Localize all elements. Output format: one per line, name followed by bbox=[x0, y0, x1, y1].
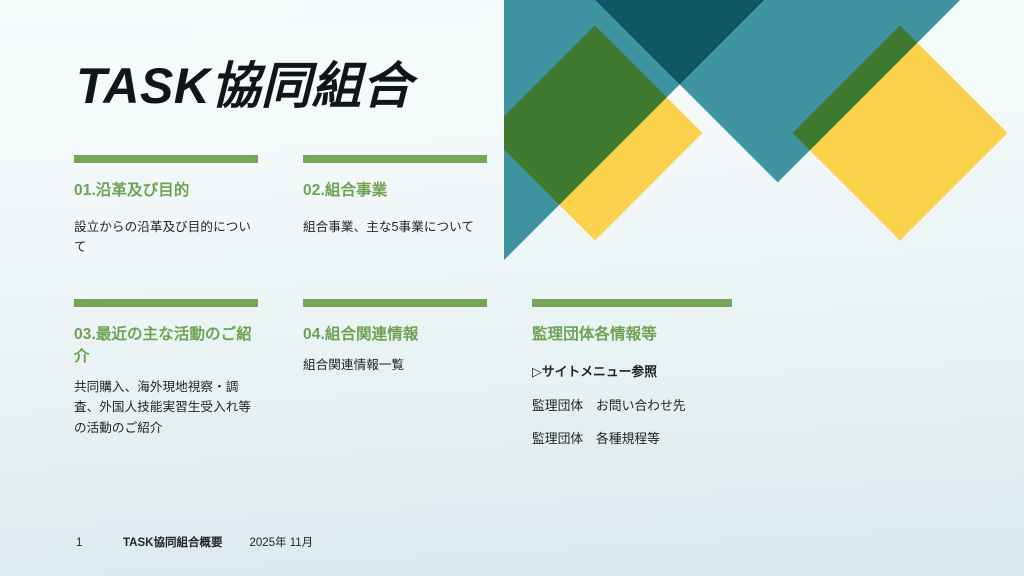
accent-bar bbox=[74, 299, 258, 307]
topic-card-body: 組合事業、主な5事業について bbox=[303, 217, 487, 237]
topic-card-title: 03.最近の主な活動のご紹介 bbox=[74, 324, 258, 368]
topic-card-02[interactable]: 02.組合事業 組合事業、主な5事業について bbox=[303, 155, 487, 258]
supervising-org-link-list: ▷サイトメニュー参照 監理団体 お問い合わせ先 監理団体 各種規程等 bbox=[532, 362, 732, 450]
page-title: TASK協同組合 bbox=[76, 57, 412, 116]
topic-card-supervising-org[interactable]: 監理団体各情報等 ▷サイトメニュー参照 監理団体 お問い合わせ先 監理団体 各種… bbox=[532, 299, 732, 450]
list-item[interactable]: 監理団体 各種規程等 bbox=[532, 429, 732, 450]
topic-card-body: 設立からの沿革及び目的について bbox=[74, 217, 258, 258]
slide-footer: 1 TASK協同組合概要 2025年 11月 bbox=[76, 534, 313, 550]
document-date: 2025年 11月 bbox=[249, 534, 313, 550]
accent-bar bbox=[303, 155, 487, 163]
topic-card-placeholder bbox=[532, 155, 732, 258]
topic-grid: 01.沿革及び目的 設立からの沿革及び目的について 02.組合事業 組合事業、主… bbox=[74, 155, 734, 450]
yellow-diamond-right bbox=[793, 26, 1008, 241]
slide: TASK協同組合 01.沿革及び目的 設立からの沿革及び目的について 02.組合… bbox=[0, 0, 1024, 576]
topic-card-title: 04.組合関連情報 bbox=[303, 324, 487, 346]
topic-card-body: 共同購入、海外現地視察・調査、外国人技能実習生受入れ等の活動のご紹介 bbox=[74, 377, 258, 438]
topic-card-title: 01.沿革及び目的 bbox=[74, 180, 258, 202]
accent-bar bbox=[303, 299, 487, 307]
topic-card-title: 02.組合事業 bbox=[303, 180, 487, 202]
topic-card-04[interactable]: 04.組合関連情報 組合関連情報一覧 bbox=[303, 299, 487, 450]
accent-bar bbox=[532, 299, 732, 307]
document-name: TASK協同組合概要 bbox=[123, 534, 222, 550]
topic-card-01[interactable]: 01.沿革及び目的 設立からの沿革及び目的について bbox=[74, 155, 258, 258]
page-number: 1 bbox=[76, 537, 123, 549]
accent-bar bbox=[74, 155, 258, 163]
topic-card-03[interactable]: 03.最近の主な活動のご紹介 共同購入、海外現地視察・調査、外国人技能実習生受入… bbox=[74, 299, 258, 450]
topic-card-body: 組合関連情報一覧 bbox=[303, 355, 487, 375]
topic-card-title: 監理団体各情報等 bbox=[532, 324, 732, 346]
site-menu-reference-label[interactable]: ▷サイトメニュー参照 bbox=[532, 362, 732, 383]
topic-row-bottom: 03.最近の主な活動のご紹介 共同購入、海外現地視察・調査、外国人技能実習生受入… bbox=[74, 299, 734, 450]
topic-row-top: 01.沿革及び目的 設立からの沿革及び目的について 02.組合事業 組合事業、主… bbox=[74, 155, 734, 258]
list-item[interactable]: 監理団体 お問い合わせ先 bbox=[532, 396, 732, 417]
